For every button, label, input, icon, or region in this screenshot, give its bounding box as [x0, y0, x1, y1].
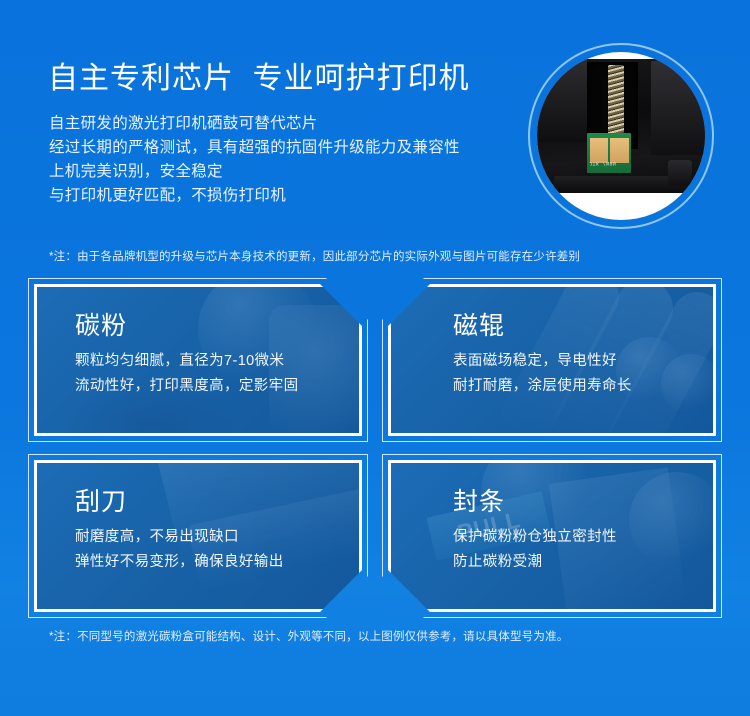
card-line: 颗粒均匀细腻，直径为7-10微米: [75, 349, 359, 374]
card-body: 刮刀 耐磨度高，不易出现缺口 弹性好不易变形，确保良好输出: [37, 463, 359, 609]
hero-line: 经过长期的严格测试，具有超强的抗固件升级能力及兼容性: [49, 136, 519, 160]
card-inner-frame: 刮刀 耐磨度高，不易出现缺口 弹性好不易变形，确保良好输出: [34, 460, 362, 612]
hero-description: 自主研发的激光打印机硒鼓可替代芯片 经过长期的严格测试，具有超强的抗固件升级能力…: [49, 112, 519, 208]
feature-card-doctor-blade: 刮刀 耐磨度高，不易出现缺口 弹性好不易变形，确保良好输出: [28, 454, 368, 618]
cartridge-nub: [668, 160, 692, 187]
note-bottom: *注：不同型号的激光碳粉盒可能结构、设计、外观等不同，以上图例仅供参考，请以具体…: [49, 628, 568, 644]
card-title: 磁辊: [453, 309, 713, 343]
card-line: 防止碳粉受潮: [453, 550, 713, 575]
spring-icon: [608, 65, 625, 139]
card-line: 保护碳粉粉仓独立密封性: [453, 525, 713, 550]
card-line: 流动性好，打印黑度高，定影牢固: [75, 374, 359, 399]
card-line: 耐打耐磨，涂层使用寿命长: [453, 374, 713, 399]
card-body: 封条 保护碳粉粉仓独立密封性 防止碳粉受潮: [391, 463, 713, 609]
card-line: 耐磨度高，不易出现缺口: [75, 525, 359, 550]
page-title: 自主专利芯片 专业呵护打印机: [48, 58, 470, 100]
card-body: 碳粉 颗粒均匀细腻，直径为7-10微米 流动性好，打印黑度高，定影牢固: [37, 287, 359, 433]
card-line: 弹性好不易变形，确保良好输出: [75, 550, 359, 575]
card-body: 磁辊 表面磁场稳定，导电性好 耐打耐磨，涂层使用寿命长: [391, 287, 713, 433]
card-inner-frame: 磁辊 表面磁场稳定，导电性好 耐打耐磨，涂层使用寿命长: [388, 284, 716, 436]
pcb-marking: JTK /N9N: [589, 160, 616, 166]
feature-card-seal: PULL 封条 保护碳粉粉仓独立密封性 防止碳粉受潮: [382, 454, 722, 618]
hero-line: 自主研发的激光打印机硒鼓可替代芯片: [49, 112, 519, 136]
feature-card-grid: 碳粉 颗粒均匀细腻，直径为7-10微米 流动性好，打印黑度高，定影牢固 磁辊: [28, 278, 722, 618]
card-title: 刮刀: [75, 485, 359, 519]
feature-card-magnetic-roller: 磁辊 表面磁场稳定，导电性好 耐打耐磨，涂层使用寿命长: [382, 278, 722, 442]
card-title: 碳粉: [75, 309, 359, 343]
note-top: *注：由于各品牌机型的升级与芯片本身技术的更新，因此部分芯片的实际外观与图片可能…: [49, 248, 580, 264]
card-inner-frame: 碳粉 颗粒均匀细腻，直径为7-10微米 流动性好，打印黑度高，定影牢固: [34, 284, 362, 436]
card-line: 表面磁场稳定，导电性好: [453, 349, 713, 374]
hero-section: 自主专利芯片 专业呵护打印机 自主研发的激光打印机硒鼓可替代芯片 经过长期的严格…: [0, 0, 750, 245]
feature-card-toner: 碳粉 颗粒均匀细腻，直径为7-10微米 流动性好，打印黑度高，定影牢固: [28, 278, 368, 442]
card-inner-frame: PULL 封条 保护碳粉粉仓独立密封性 防止碳粉受潮: [388, 460, 716, 612]
card-title: 封条: [453, 485, 713, 519]
hero-line: 上机完美识别，安全稳定: [49, 160, 519, 184]
promo-banner: 自主专利芯片 专业呵护打印机 自主研发的激光打印机硒鼓可替代芯片 经过长期的严格…: [0, 0, 750, 716]
chip-photo-circle: JTK /N9N: [528, 43, 714, 229]
printer-chip-photo: JTK /N9N: [537, 52, 705, 220]
hero-line: 与打印机更好匹配，不损伤打印机: [49, 184, 519, 208]
